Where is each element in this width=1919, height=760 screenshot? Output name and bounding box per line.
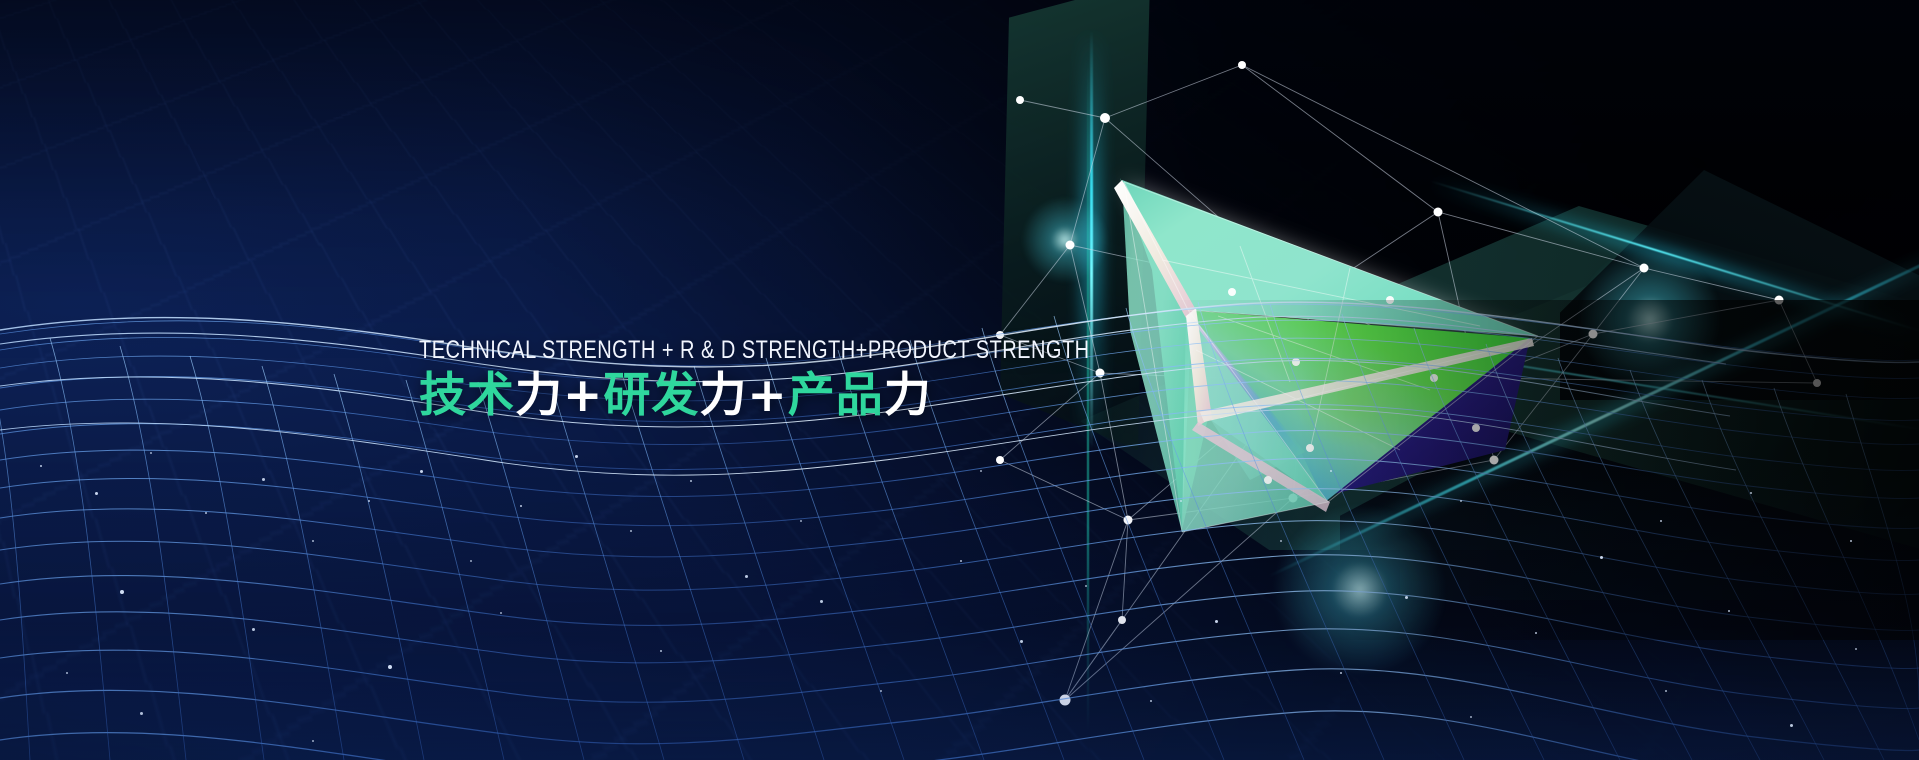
headline-block: TECHNICAL STRENGTH + R & D STRENGTH+PROD…: [419, 336, 1257, 424]
headline-chinese: 技术力+研发力+产品力: [419, 368, 1257, 424]
headline-cn-part-4: 力: [699, 368, 747, 423]
headline-cn-part-0: 技术: [419, 368, 515, 423]
headline-cn-part-6: 产品: [788, 368, 884, 423]
headline-cn-part-3: 研发: [603, 368, 699, 423]
headline-english: TECHNICAL STRENGTH + R & D STRENGTH+PROD…: [419, 336, 1090, 364]
headline-cn-part-2: +: [563, 368, 603, 423]
headline-cn-part-1: 力: [515, 368, 563, 423]
headline-cn-part-5: +: [747, 368, 787, 423]
hero-banner: TECHNICAL STRENGTH + R & D STRENGTH+PROD…: [0, 0, 1919, 760]
headline-cn-part-7: 力: [884, 368, 932, 423]
